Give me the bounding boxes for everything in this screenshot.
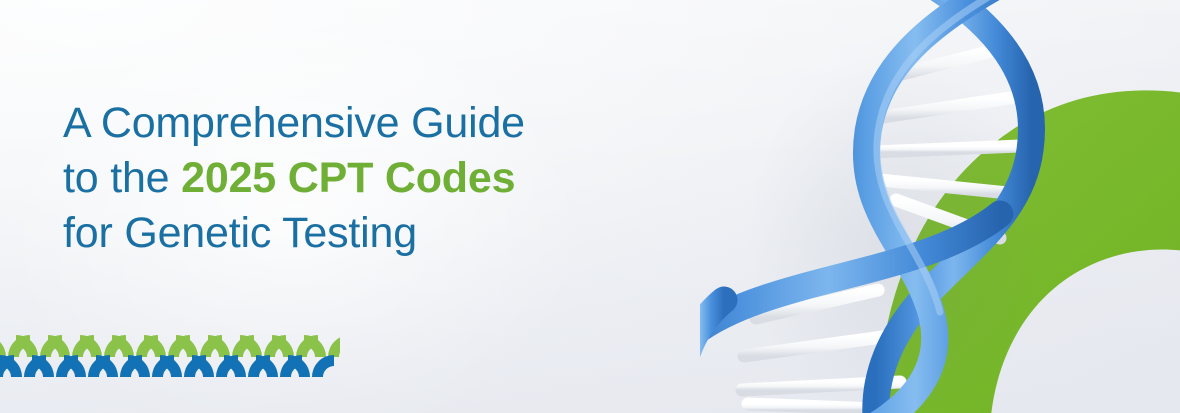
arc-pattern-svg <box>0 333 340 383</box>
dna-illustration <box>700 0 1180 413</box>
decorative-arc-pattern <box>0 333 340 383</box>
headline-line-3: for Genetic Testing <box>63 206 703 261</box>
headline-block: A Comprehensive Guide to the 2025 CPT Co… <box>63 96 703 261</box>
headline-accent-text: 2025 CPT Codes <box>181 154 515 202</box>
headline-line-2-prefix: to the <box>63 154 181 202</box>
headline-line-2: to the 2025 CPT Codes <box>63 151 703 206</box>
arc-pattern-row-blue <box>0 355 334 377</box>
dna-illustration-svg <box>700 0 1180 413</box>
hero-banner: A Comprehensive Guide to the 2025 CPT Co… <box>0 0 1180 413</box>
headline-line-1: A Comprehensive Guide <box>63 96 703 151</box>
arc-pattern-row-green <box>0 335 340 357</box>
